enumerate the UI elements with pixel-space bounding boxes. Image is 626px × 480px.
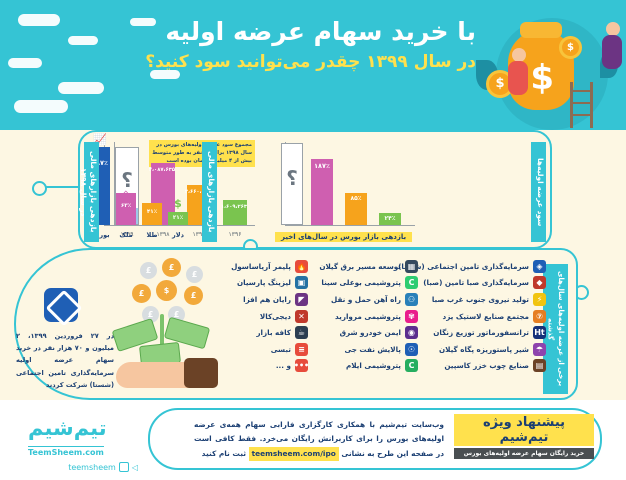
bar-return-1397: ۸۵٪ xyxy=(345,193,367,225)
bar-asset-property-value: ۶۳٪ xyxy=(116,203,136,209)
list-item[interactable]: Cپتروشیمی بوعلی سینا xyxy=(318,275,418,292)
flame-icon: 🔥 xyxy=(295,260,308,273)
bar-asset-dollar-value: ۲۱٪ xyxy=(168,215,188,221)
leasing-icon: ▣ xyxy=(295,276,308,289)
bar-return-1396: ۲۴٪ xyxy=(379,213,401,225)
chart-asset-returns: ۵۰٪ ۱۰۰٪ ۱۵۰٪ ۲۰۰٪ $ ۲۱٪ دلار ▃▃ ۴۱٪ طلا… xyxy=(92,140,196,240)
header-title-block: با خرید سهام عرضه اولیه در سال ۱۳۹۹ چقدر… xyxy=(46,16,476,76)
digikala-icon: ✕ xyxy=(295,310,308,323)
power-icon: ⚡ xyxy=(533,293,546,306)
grid-icon: ▦ xyxy=(405,260,418,273)
bar-return-1399: ؟ xyxy=(281,143,303,225)
list-item[interactable]: ▦توسعه مسیر برق گیلان xyxy=(318,258,418,275)
brand-social[interactable]: ◁ teemsheem xyxy=(28,462,138,472)
list-item[interactable]: ⑦مجتمع صنایع لاستیک یزد xyxy=(428,308,546,325)
bar-1396: ۱،۶۰۹،۲۶۳ xyxy=(223,200,247,225)
coin-icon: £ xyxy=(162,258,181,277)
coin-icon: £ xyxy=(140,262,157,279)
list-item[interactable]: ☉پالایش نفت جی xyxy=(318,341,418,358)
tire-icon: ⑦ xyxy=(533,310,546,323)
brand-social-handle: teemsheem xyxy=(68,463,116,472)
list-item[interactable]: ☕کافه بازار xyxy=(216,324,308,341)
bar-asset-gold-value: ۴۱٪ xyxy=(142,209,162,215)
connector-dot-left xyxy=(32,181,47,196)
pearl-icon: ✾ xyxy=(405,310,418,323)
list-item[interactable]: ◤رایان هم افزا xyxy=(216,291,308,308)
brand-block: تیم‌شیم TeemSheem.com ◁ teemsheem xyxy=(28,416,138,472)
shield-icon: ◉ xyxy=(405,326,418,339)
list-item[interactable]: ▤صنایع چوب خزر کاسپین xyxy=(428,358,546,375)
bar-return-value-1397: ۸۵٪ xyxy=(345,195,367,202)
footer-description: وب‌سایت تیم‌شیم با همکاری کارگزاری فاراب… xyxy=(194,418,444,461)
list-item[interactable]: ⚇راه آهن حمل و نقل xyxy=(318,291,418,308)
coin-icon: £ xyxy=(186,266,203,283)
brand-domain: TeemSheem.com xyxy=(28,446,104,457)
wood-icon: ▤ xyxy=(533,359,546,372)
footer-text-after: ثبت نام کنید xyxy=(202,449,246,458)
petro2-icon: C xyxy=(405,359,418,372)
charts-card: سود عرضه اولیه‌ها مجموع سود عرضه اولیه‌ه… xyxy=(78,130,552,249)
bar-value-1396: ۱،۶۰۹،۲۶۳ xyxy=(223,204,247,210)
milk-icon: ☂ xyxy=(533,343,546,356)
header-title-line1: با خرید سهام عرضه اولیه xyxy=(46,16,476,47)
bar-return-1398: ۱۸۷٪ xyxy=(311,159,333,225)
footer-badge: پیشنهاد ویژه تیم‌شیم خرید رایگان سهام عر… xyxy=(454,414,594,459)
company-column-2: ▦توسعه مسیر برق گیلان Cپتروشیمی بوعلی سی… xyxy=(318,258,418,374)
list-item[interactable]: ☂شیر پاستوریزه پگاه گیلان xyxy=(428,341,546,358)
company-column-3: 🔥پلیمر آریاساسول ▣لیزینگ پارسیان ◤رایان … xyxy=(216,258,308,374)
list-item[interactable]: •••و ... xyxy=(216,358,308,375)
ladder-icon xyxy=(568,82,598,128)
refinery-icon: ☉ xyxy=(405,343,418,356)
company-column-1: ◈سرمایه‌گذاری تامین اجتماعی (شستا) ◆سرما… xyxy=(428,258,546,374)
footer-offer-card: پیشنهاد ویژه تیم‌شیم خرید رایگان سهام عر… xyxy=(148,408,602,470)
chart-market-return-title: بازدهی بازار بورس در سال‌های اخیر xyxy=(275,232,412,242)
ipo-profit-vertical-label: سود عرضه اولیه‌ها xyxy=(531,142,546,242)
list-item[interactable]: ⚡تولید نیروی جنوب غرب صبا xyxy=(428,291,546,308)
list-item[interactable]: Htترانسفورماتور توزیع زنگان xyxy=(428,324,546,341)
instagram-icon xyxy=(119,462,129,472)
list-item[interactable]: ▣لیزینگ پارسیان xyxy=(216,275,308,292)
bar-asset-gold: ۴۱٪ xyxy=(142,203,162,225)
list-item[interactable]: ◈سرمایه‌گذاری تامین اجتماعی (شستا) xyxy=(428,258,546,275)
rail-icon: ⚇ xyxy=(405,293,418,306)
footer-badge-title: پیشنهاد ویژه تیم‌شیم xyxy=(454,414,594,446)
header-banner: با خرید سهام عرضه اولیه در سال ۱۳۹۹ چقدر… xyxy=(0,0,626,130)
asset-label-gold: طلا xyxy=(138,231,166,239)
footer-badge-subtitle: خرید رایگان سهام عرضه اولیه‌های بورس xyxy=(454,448,594,459)
coin-icon: £ xyxy=(132,284,151,303)
chart-market-return: ۵۰٪ ۱۰۰٪ ۱۵۰٪ ۲۰۰٪ ۲۴٪ ۱۳۹۶ ۸۵٪ ۱۳۹۷ ۱۸۷… xyxy=(265,140,415,240)
sleeve-cuff xyxy=(184,358,218,388)
transformer-icon: Ht xyxy=(533,326,546,339)
bar-return-value-1398: ۱۸۷٪ xyxy=(311,162,333,170)
past-ipos-vertical-label: برخی از عرضه اولیه‌های سال‌های گذشته xyxy=(543,264,568,394)
coin-icon: $ xyxy=(156,280,177,301)
list-item[interactable]: ◆سرمایه‌گذاری صبا تامین (صبا) xyxy=(428,275,546,292)
list-item[interactable]: ◉ایمن خودرو شرق xyxy=(318,324,418,341)
cloud-decor xyxy=(58,82,104,94)
bar-return-question-icon: ؟ xyxy=(282,166,302,190)
footer-bar: پیشنهاد ویژه تیم‌شیم خرید رایگان سهام عر… xyxy=(0,400,626,480)
header-title-line2: در سال ۱۳۹۹ چقدر می‌توانید سود کنید؟ xyxy=(46,50,476,76)
cloud-decor xyxy=(8,58,42,68)
saba-icon: ◆ xyxy=(533,276,546,289)
list-item[interactable]: 🔥پلیمر آریاساسول xyxy=(216,258,308,275)
brand-logo-mark: تیم‌شیم xyxy=(28,416,138,440)
money-plant-illustration: £ £ £ £ $ £ £ £ xyxy=(110,258,228,390)
telegram-icon: ◁ xyxy=(132,463,138,472)
cloud-decor xyxy=(14,100,68,113)
list-item[interactable]: ✾پتروشیمی مروارید xyxy=(318,308,418,325)
list-item[interactable]: Cپتروشیمی ایلام xyxy=(318,358,418,375)
coin-icon: $ xyxy=(559,36,582,59)
shasta-logo xyxy=(44,288,78,322)
tapsi-icon: ≡ xyxy=(295,343,308,356)
financial-markets-vertical-label: بازدهی بازارهای مالی xyxy=(202,142,217,242)
asset-label-dollar: دلار xyxy=(164,231,192,239)
bar-return-value-1396: ۲۴٪ xyxy=(379,215,401,222)
asset-label-property: ملک xyxy=(112,231,140,239)
list-item[interactable]: ✕دیجی‌کالا xyxy=(216,308,308,325)
xtick-1396: ۱۳۹۶ xyxy=(219,231,251,238)
bar-asset-dollar: ۲۱٪ xyxy=(168,212,188,225)
petro-icon: C xyxy=(405,276,418,289)
list-item[interactable]: ≡تبسی xyxy=(216,341,308,358)
asset-returns-vertical-label: بازدهی بازارهای مالی در سال ۱۳۹۸ xyxy=(84,142,99,242)
cafebazaar-icon: ☕ xyxy=(295,326,308,339)
rayan-icon: ◤ xyxy=(295,293,308,306)
more-icon: ••• xyxy=(295,359,308,372)
dollar-icon: $ xyxy=(168,197,188,210)
coin-icon: £ xyxy=(184,286,203,305)
shasta-icon: ◈ xyxy=(533,260,546,273)
footer-url-link[interactable]: teemsheem.com/ipo xyxy=(249,447,339,461)
shasta-participation-note: در ۲۷ فروردین ۱۳۹۹، ۲ میلیون و ۷۰ هزار ن… xyxy=(16,330,114,391)
bar-asset-property: ۶۳٪ xyxy=(116,193,136,225)
